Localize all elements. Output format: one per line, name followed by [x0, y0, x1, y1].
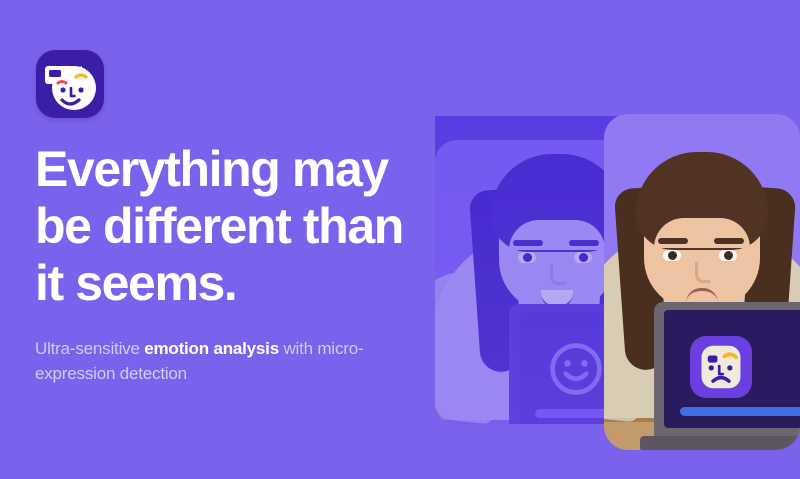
eyebrow-left: [658, 238, 688, 244]
pupil-left: [668, 251, 677, 260]
nose: [695, 262, 710, 283]
worried-scene: [604, 114, 800, 450]
eyebrow-right: [714, 238, 744, 244]
hero-copy: Everything may be different than it seem…: [0, 0, 430, 479]
subtitle: Ultra-sensitive emotion analysis with mi…: [35, 336, 395, 386]
photo-stack: [415, 0, 800, 479]
sad-face-icon: [690, 336, 752, 398]
page-title: Everything may be different than it seem…: [35, 141, 415, 312]
promo-banner: Everything may be different than it seem…: [0, 0, 800, 479]
laptop-base: [640, 436, 800, 450]
video-face-logo-icon[interactable]: [36, 50, 104, 118]
duotone-overlay: [435, 116, 617, 424]
subtitle-prefix: Ultra-sensitive: [35, 339, 144, 358]
screen-progress-bar: [680, 407, 800, 416]
worried-woman-photo: [604, 100, 800, 450]
pupil-right: [724, 251, 733, 260]
smiling-woman-duotone-photo: [435, 116, 617, 424]
subtitle-emphasis: emotion analysis: [144, 339, 279, 358]
